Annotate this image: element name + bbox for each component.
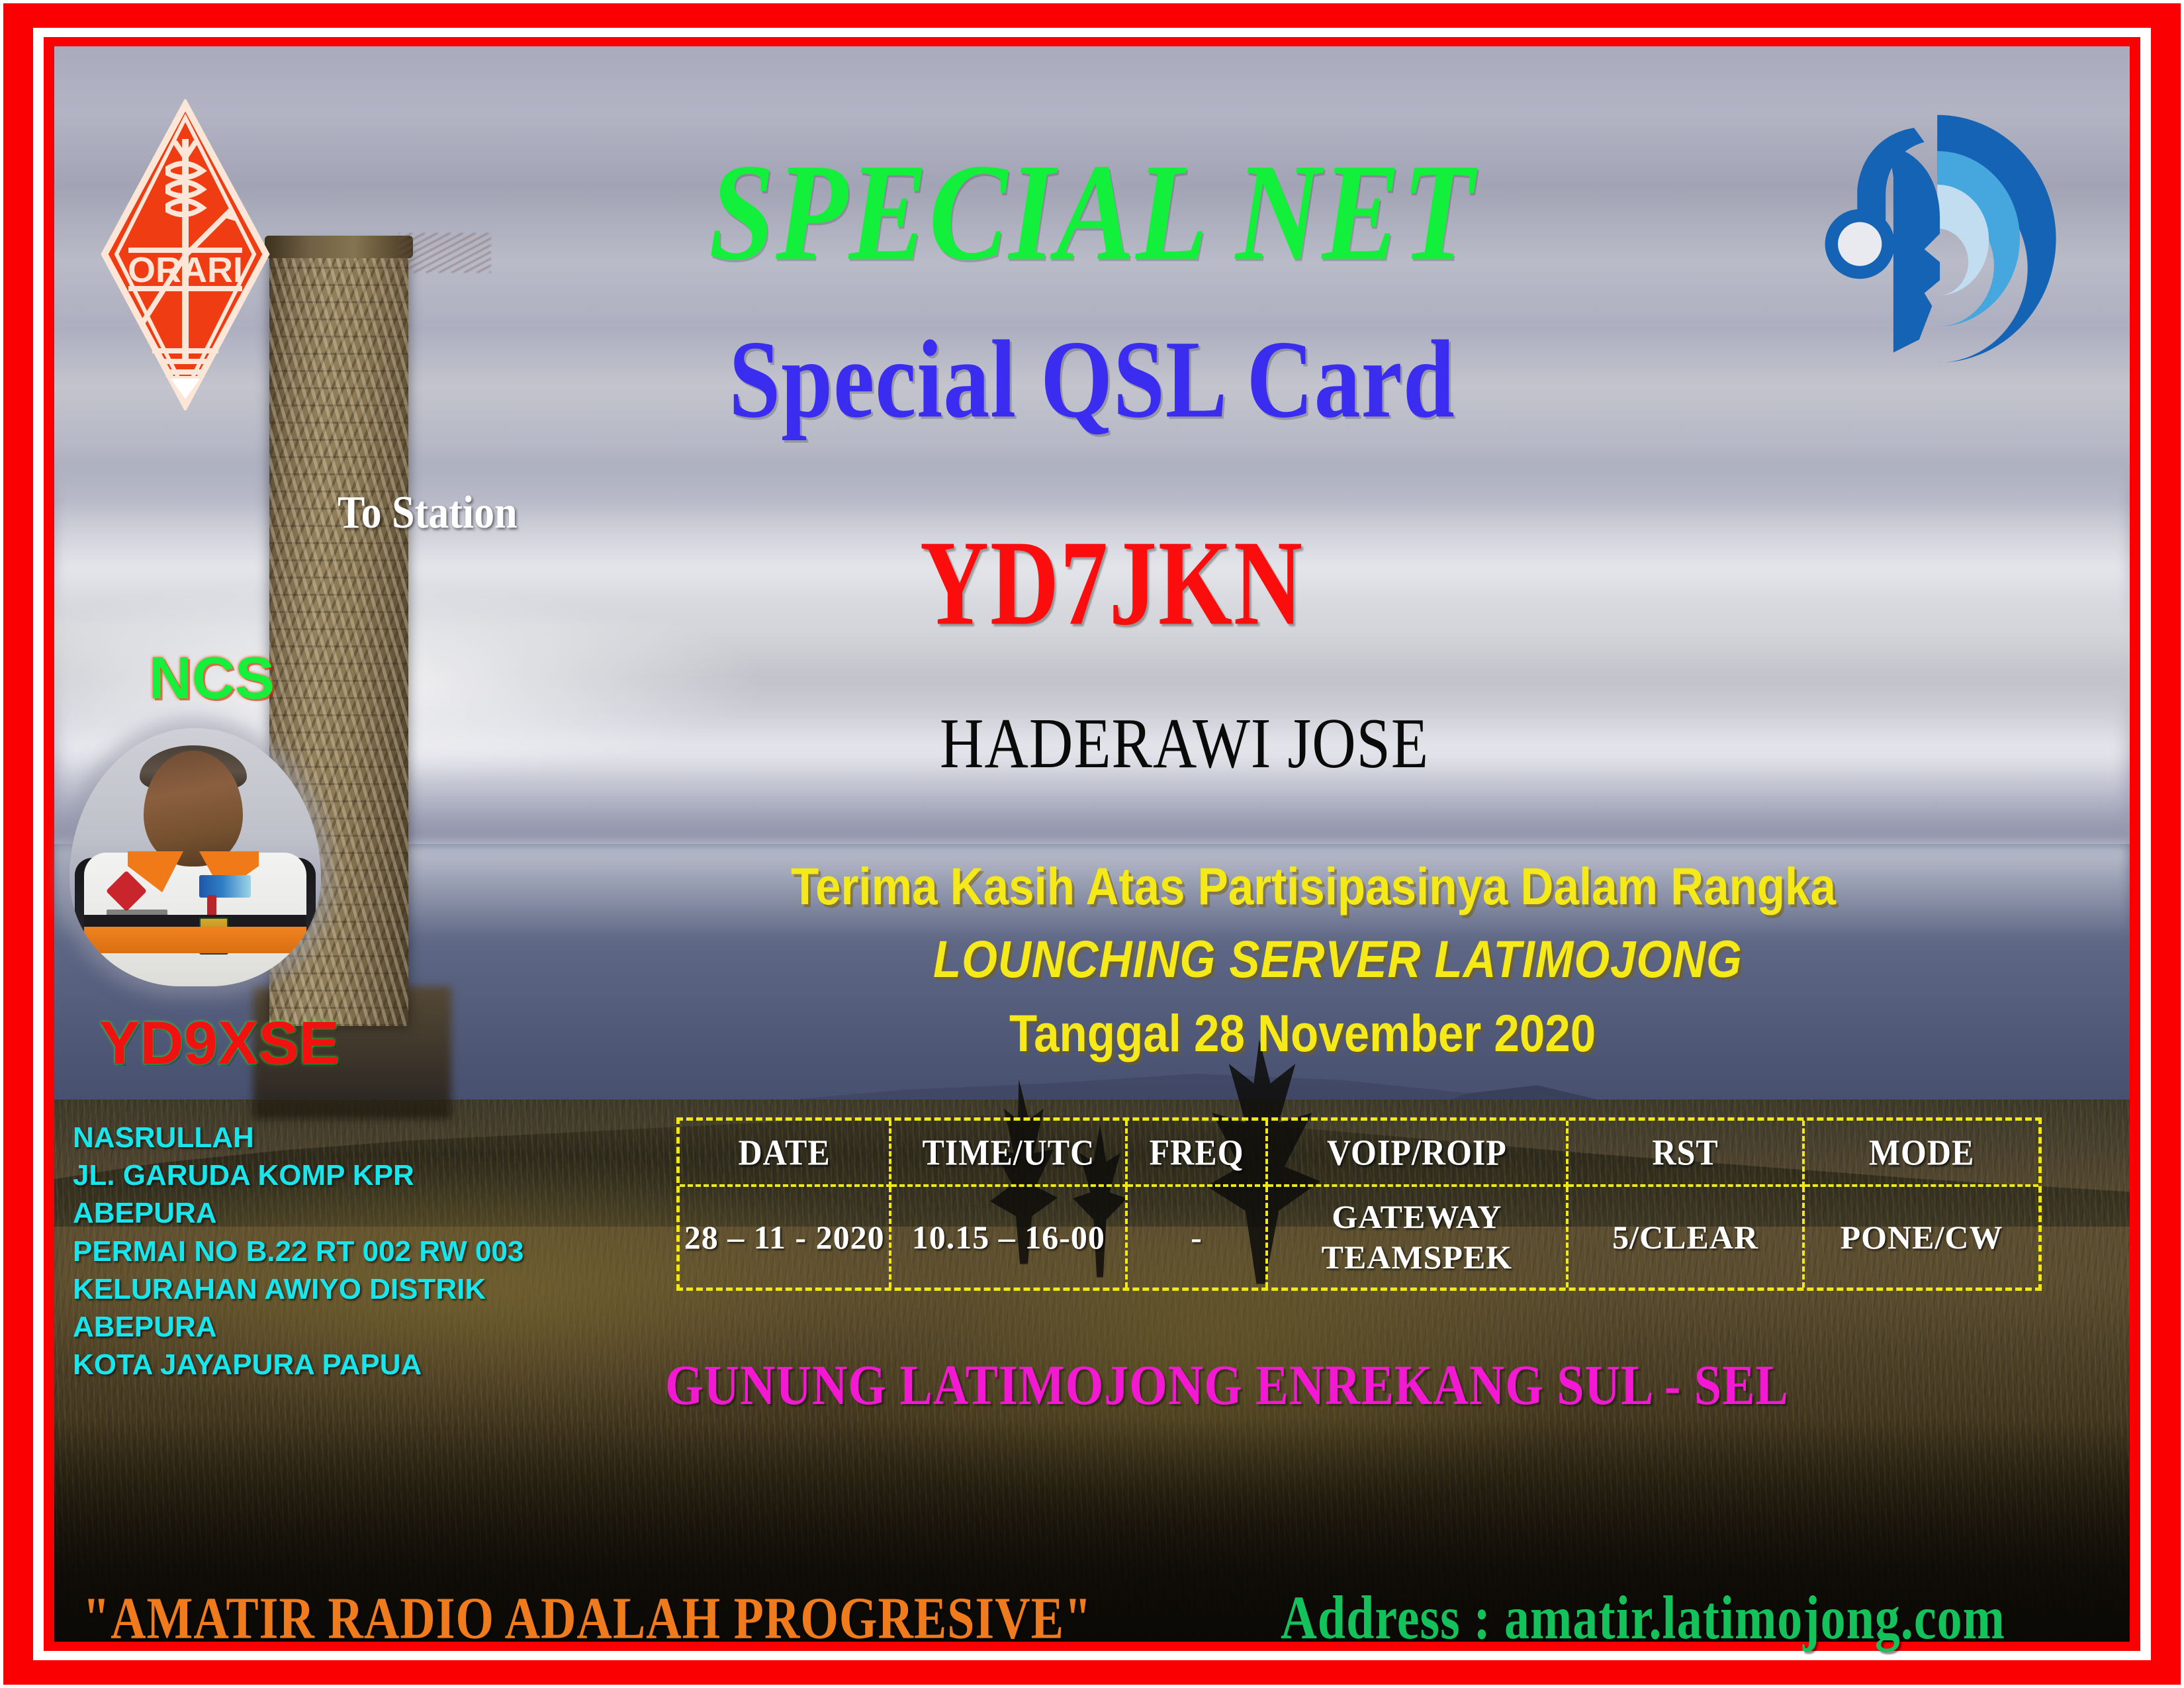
address-line: KOTA JAYAPURA PAPUA	[73, 1346, 602, 1383]
column-header-time: TIME/UTC	[890, 1117, 1126, 1189]
cell-mode: PONE/CW	[1803, 1186, 2038, 1288]
operator-name: HADERAWI JOSE	[940, 707, 1429, 779]
column-header-freq: FREQ	[1126, 1117, 1266, 1189]
cell-voip: GATEWAY TEAMSPEK	[1267, 1186, 1567, 1288]
qso-log-table: DATE TIME/UTC FREQ VOIP/ROIP RST MODE 28…	[676, 1117, 2042, 1291]
ncs-address-block: NASRULLAH JL. GARUDA KOMP KPR ABEPURA PE…	[73, 1119, 602, 1383]
footer-motto: "AMATIR RADIO ADALAH PROGRESIVE"	[83, 1589, 1092, 1648]
cell-rst: 5/CLEAR	[1567, 1186, 1803, 1288]
address-line: ABEPURA	[73, 1194, 602, 1232]
column-header-mode: MODE	[1803, 1117, 2038, 1189]
address-line: KELURAHAN AWIYO DISTRIK	[73, 1270, 602, 1308]
uniform-orange-band	[84, 927, 306, 953]
qsl-card: ORARI SPECIAL NET Special QSL Card To St…	[0, 0, 2184, 1688]
column-header-voip: VOIP/ROIP	[1267, 1117, 1567, 1189]
cell-voip-line2: TEAMSPEK	[1268, 1237, 1566, 1278]
to-station-label: To Station	[338, 490, 518, 536]
column-header-date: DATE	[680, 1117, 890, 1189]
uniform-patch-logo	[199, 875, 251, 898]
table-row: 28 – 11 - 2020 10.15 – 16-00 - GATEWAY T…	[680, 1186, 2038, 1288]
ncs-operator-photo	[69, 728, 321, 986]
uniform-black-band	[84, 915, 306, 928]
cell-freq: -	[1126, 1186, 1266, 1288]
cell-date: 28 – 11 - 2020	[680, 1186, 890, 1288]
address-line: JL. GARUDA KOMP KPR	[73, 1156, 602, 1194]
ncs-callsign: YD9XSE	[99, 1013, 340, 1074]
page-subtitle-qsl-card: Special QSL Card	[0, 324, 2184, 436]
thanks-line-1: Terima Kasih Atas Partisipasinya Dalam R…	[791, 861, 1836, 913]
cell-voip-line1: GATEWAY	[1268, 1197, 1566, 1237]
mountain-caption: GUNUNG LATIMOJONG ENREKANG SUL - SEL	[665, 1357, 1789, 1414]
table-header-row: DATE TIME/UTC FREQ VOIP/ROIP RST MODE	[680, 1121, 2038, 1186]
address-line: PERMAI NO B.22 RT 002 RW 003	[73, 1233, 602, 1270]
cell-time: 10.15 – 16-00	[890, 1186, 1126, 1288]
page-title-special-net: SPECIAL NET	[0, 142, 2184, 281]
column-header-rst: RST	[1567, 1117, 1803, 1189]
address-line: NASRULLAH	[73, 1119, 602, 1156]
station-callsign: YD7JKN	[920, 523, 1304, 645]
address-line: ABEPURA	[73, 1308, 602, 1346]
thanks-line-3: Tanggal 28 November 2020	[1009, 1008, 1596, 1060]
ncs-label: NCS	[149, 649, 275, 708]
thanks-line-2: LOUNCHING SERVER LATIMOJONG	[933, 933, 1743, 986]
footer-address: Address : amatir.latimojong.com	[1281, 1587, 2005, 1649]
